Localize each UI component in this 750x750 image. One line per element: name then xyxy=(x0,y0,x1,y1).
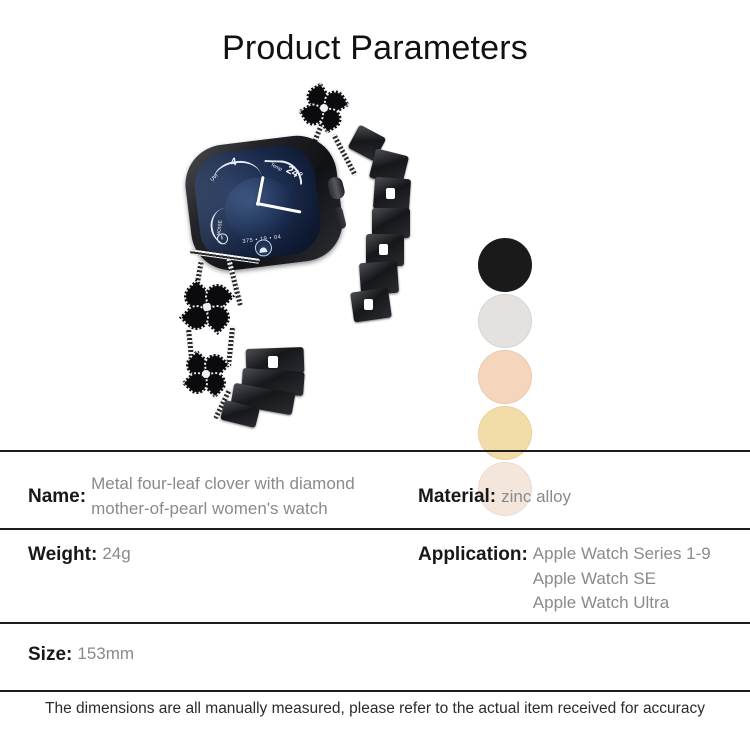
watch-screen: UVI 4 Temp 24° NOISE 375 • 19 • 04 xyxy=(191,142,325,266)
band-clasp-hole xyxy=(268,356,278,368)
clover-center xyxy=(202,370,210,378)
table-row: Weight: 24g Application: Apple Watch Ser… xyxy=(0,530,750,622)
color-swatch-item[interactable] xyxy=(478,350,538,406)
spec-cell-material: Material: zinc alloy xyxy=(418,466,750,528)
band-link-hole xyxy=(386,188,395,199)
color-swatch-item[interactable] xyxy=(478,294,538,350)
spec-value-size: 153mm xyxy=(72,642,134,667)
spec-label-material: Material: xyxy=(418,484,496,509)
spec-label-weight: Weight: xyxy=(28,542,97,567)
clover-charm-top xyxy=(300,84,348,132)
clover-charm-middle xyxy=(184,284,230,330)
spec-cell-size: Size: 153mm xyxy=(0,642,418,667)
product-image: UVI 4 Temp 24° NOISE 375 • 19 • 04 xyxy=(176,92,432,440)
digital-crown xyxy=(326,176,346,201)
spec-label-size: Size: xyxy=(28,642,72,667)
clover-center xyxy=(203,303,211,311)
spec-value-weight: 24g xyxy=(97,542,130,567)
spec-value-material: zinc alloy xyxy=(496,485,571,510)
table-rule-bottom xyxy=(0,690,750,692)
footer-disclaimer: The dimensions are all manually measured… xyxy=(0,700,750,718)
product-hero: UVI 4 Temp 24° NOISE 375 • 19 • 04 xyxy=(0,92,750,444)
band-link-hole xyxy=(379,244,388,255)
spec-value-name: Metal four-leaf clover with diamond moth… xyxy=(86,472,355,521)
spec-value-application: Apple Watch Series 1-9 Apple Watch SE Ap… xyxy=(528,542,711,616)
clover-charm-bottom xyxy=(186,354,226,394)
spec-cell-application: Application: Apple Watch Series 1-9 Appl… xyxy=(418,542,750,616)
spec-table: Name: Metal four-leaf clover with diamon… xyxy=(0,450,750,692)
table-row: Name: Metal four-leaf clover with diamon… xyxy=(0,452,750,528)
band-link-hole xyxy=(364,299,373,310)
spec-label-name: Name: xyxy=(28,484,86,509)
color-swatch-silver[interactable] xyxy=(478,294,532,348)
color-swatch-black[interactable] xyxy=(478,238,532,292)
spec-label-application: Application: xyxy=(418,542,528,567)
color-swatch-item[interactable] xyxy=(478,238,538,294)
side-button xyxy=(334,206,347,229)
spec-cell-name: Name: Metal four-leaf clover with diamon… xyxy=(0,466,418,528)
spec-cell-weight: Weight: 24g xyxy=(0,542,418,567)
table-row: Size: 153mm xyxy=(0,624,750,690)
page-title: Product Parameters xyxy=(0,28,750,69)
color-swatch-rose-gold[interactable] xyxy=(478,350,532,404)
